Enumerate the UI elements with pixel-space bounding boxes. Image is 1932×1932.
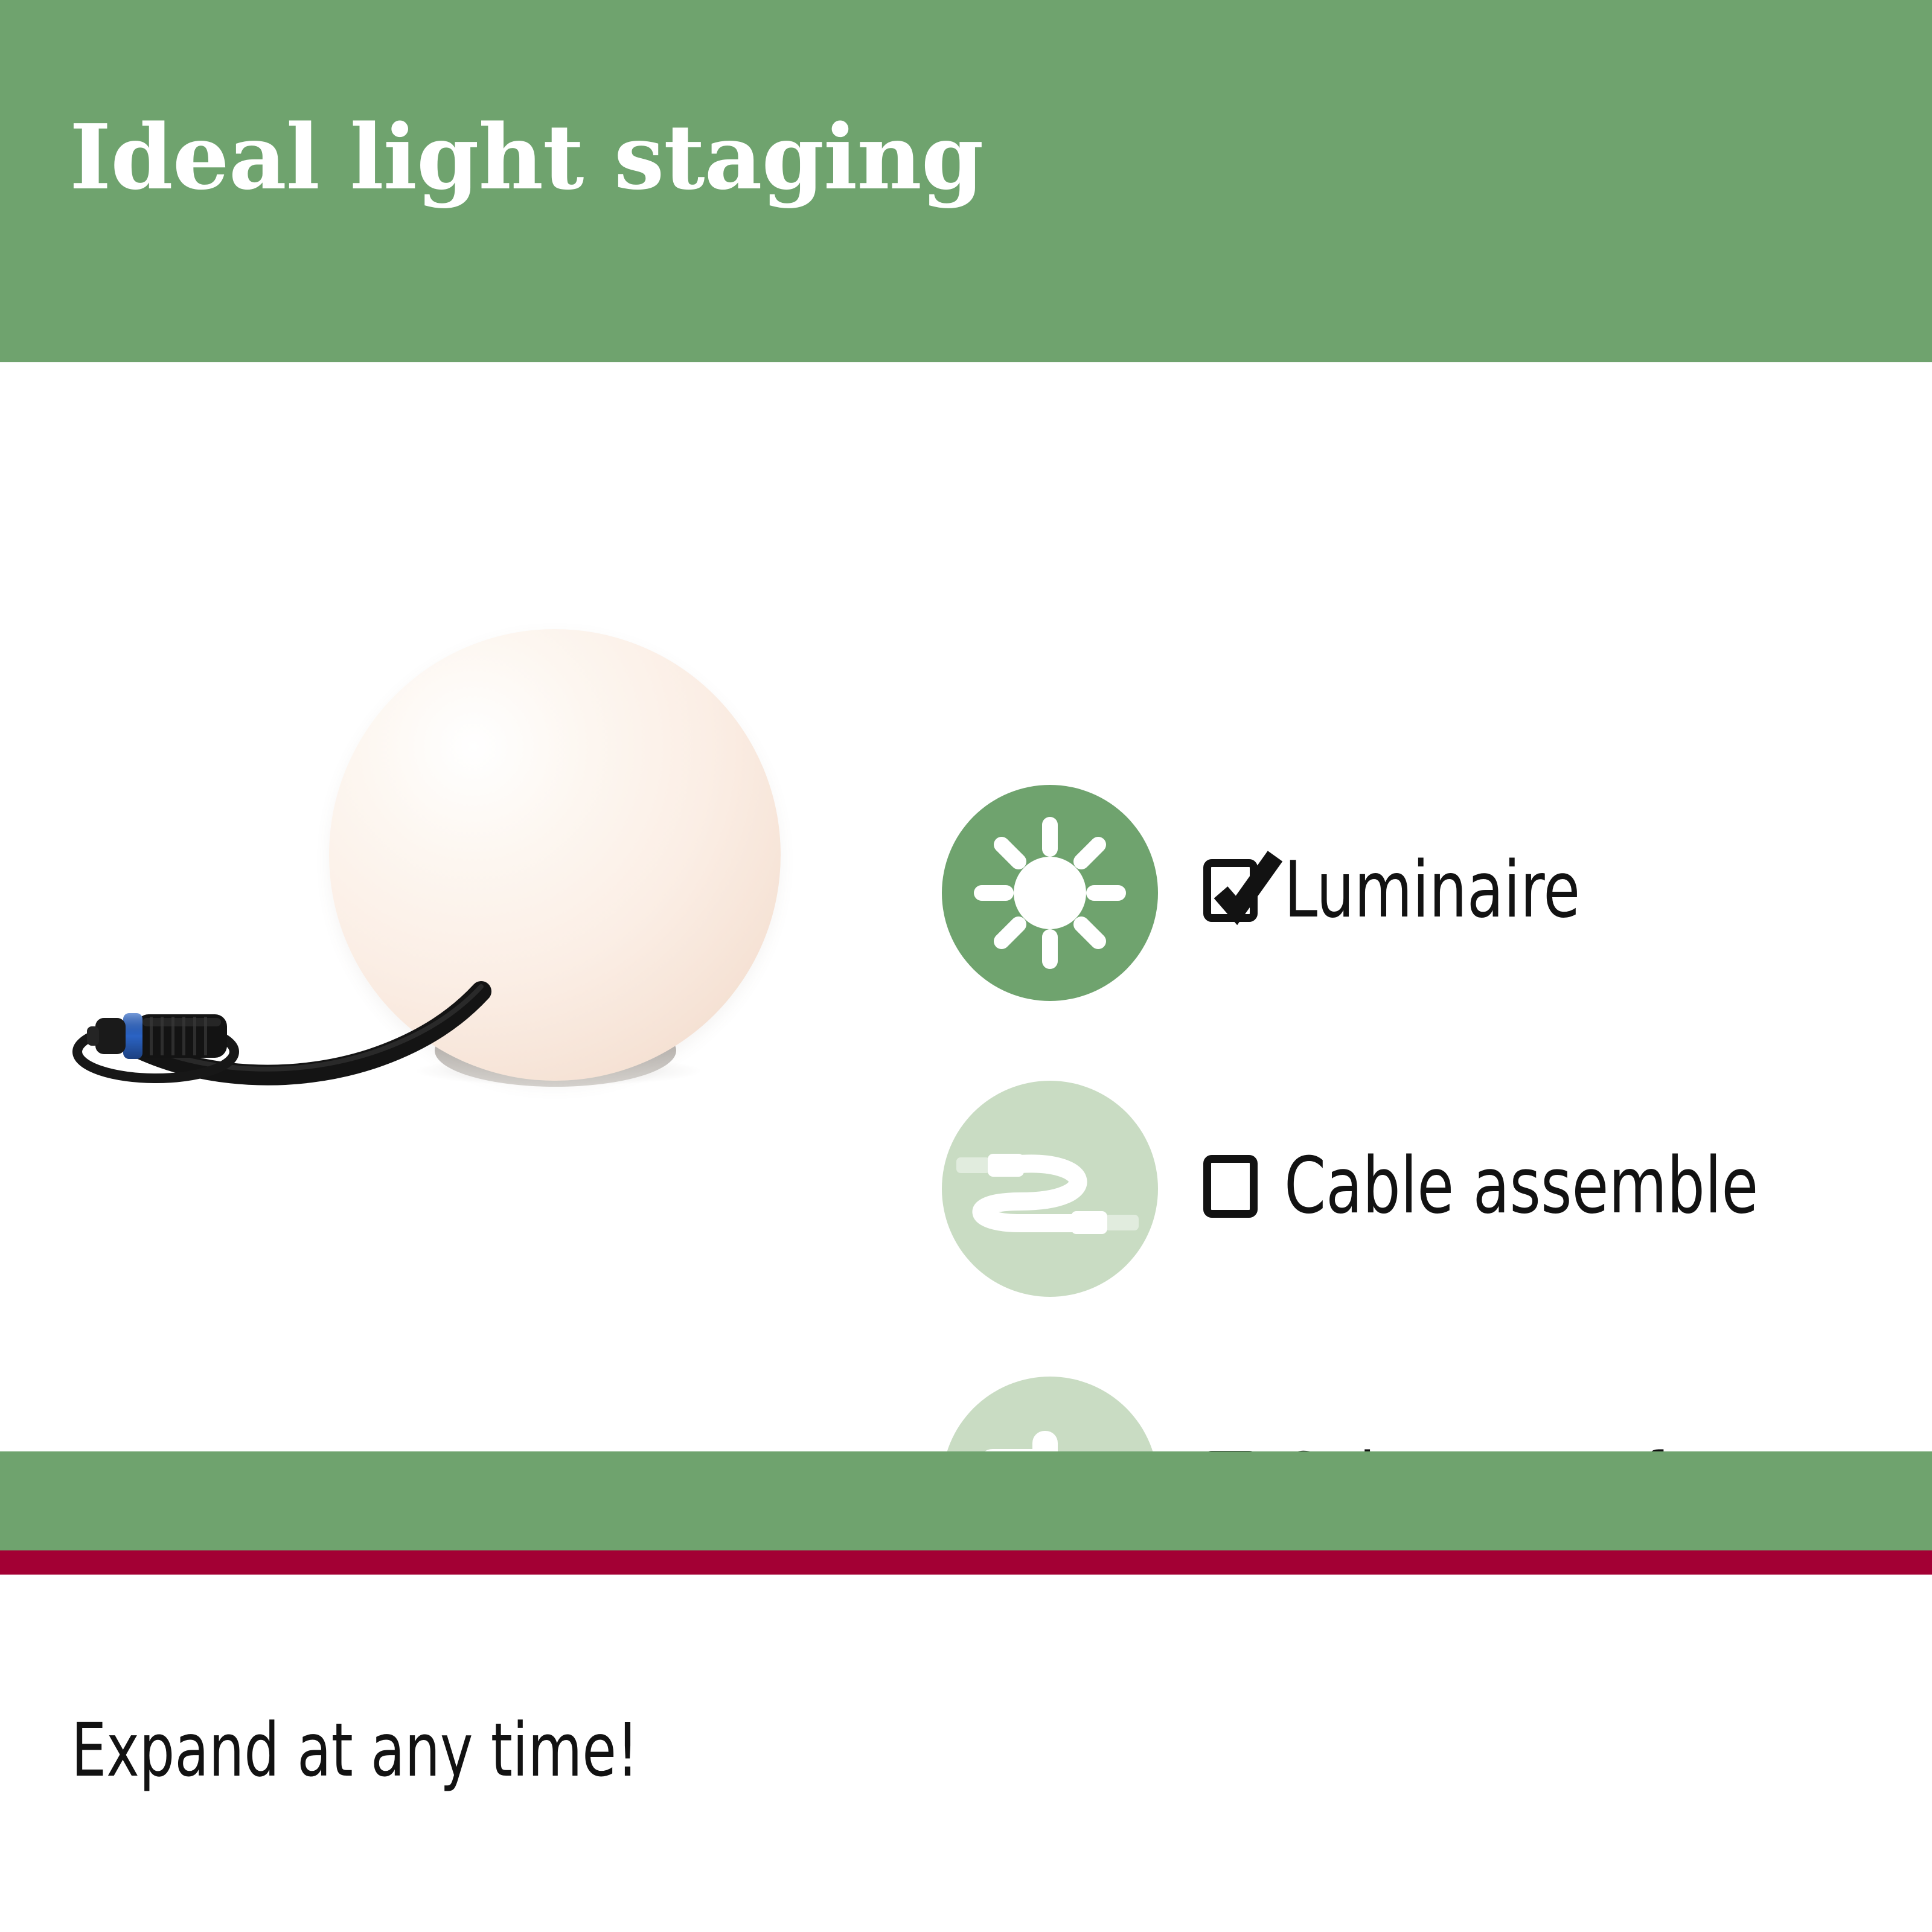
checkbox-luminaire[interactable] <box>1203 859 1258 922</box>
header-banner: Ideal light staging <box>0 0 1932 362</box>
footer-red-bar <box>0 1550 1932 1575</box>
sun-icon <box>942 785 1158 1001</box>
checklist-label-wrap: Cable assemble <box>1203 1135 1835 1238</box>
footer-green-bar <box>0 1451 1932 1550</box>
main-content: Luminaire Cable assemble <box>0 362 1932 1451</box>
product-photo <box>36 592 833 1147</box>
cable-icon <box>942 1081 1158 1297</box>
sun-icon-badge <box>942 785 1158 1001</box>
cable-connector-icon <box>65 993 264 1083</box>
check-icon <box>1199 840 1290 931</box>
checklist-item-luminaire[interactable]: Luminaire <box>936 779 1902 984</box>
checklist-item-cable-assemble[interactable]: Cable assemble <box>936 1075 1902 1280</box>
page-title: Ideal light staging <box>69 112 983 202</box>
checklist-label-cable-assemble: Cable assemble <box>1284 1148 1758 1225</box>
checkbox-cable-assemble[interactable] <box>1203 1155 1258 1218</box>
cable-icon-badge <box>942 1081 1158 1297</box>
checklist-label-luminaire: Luminaire <box>1284 852 1580 929</box>
footer-note: Expand at any time! <box>71 1713 639 1787</box>
checklist-label-wrap: Luminaire <box>1203 839 1628 942</box>
